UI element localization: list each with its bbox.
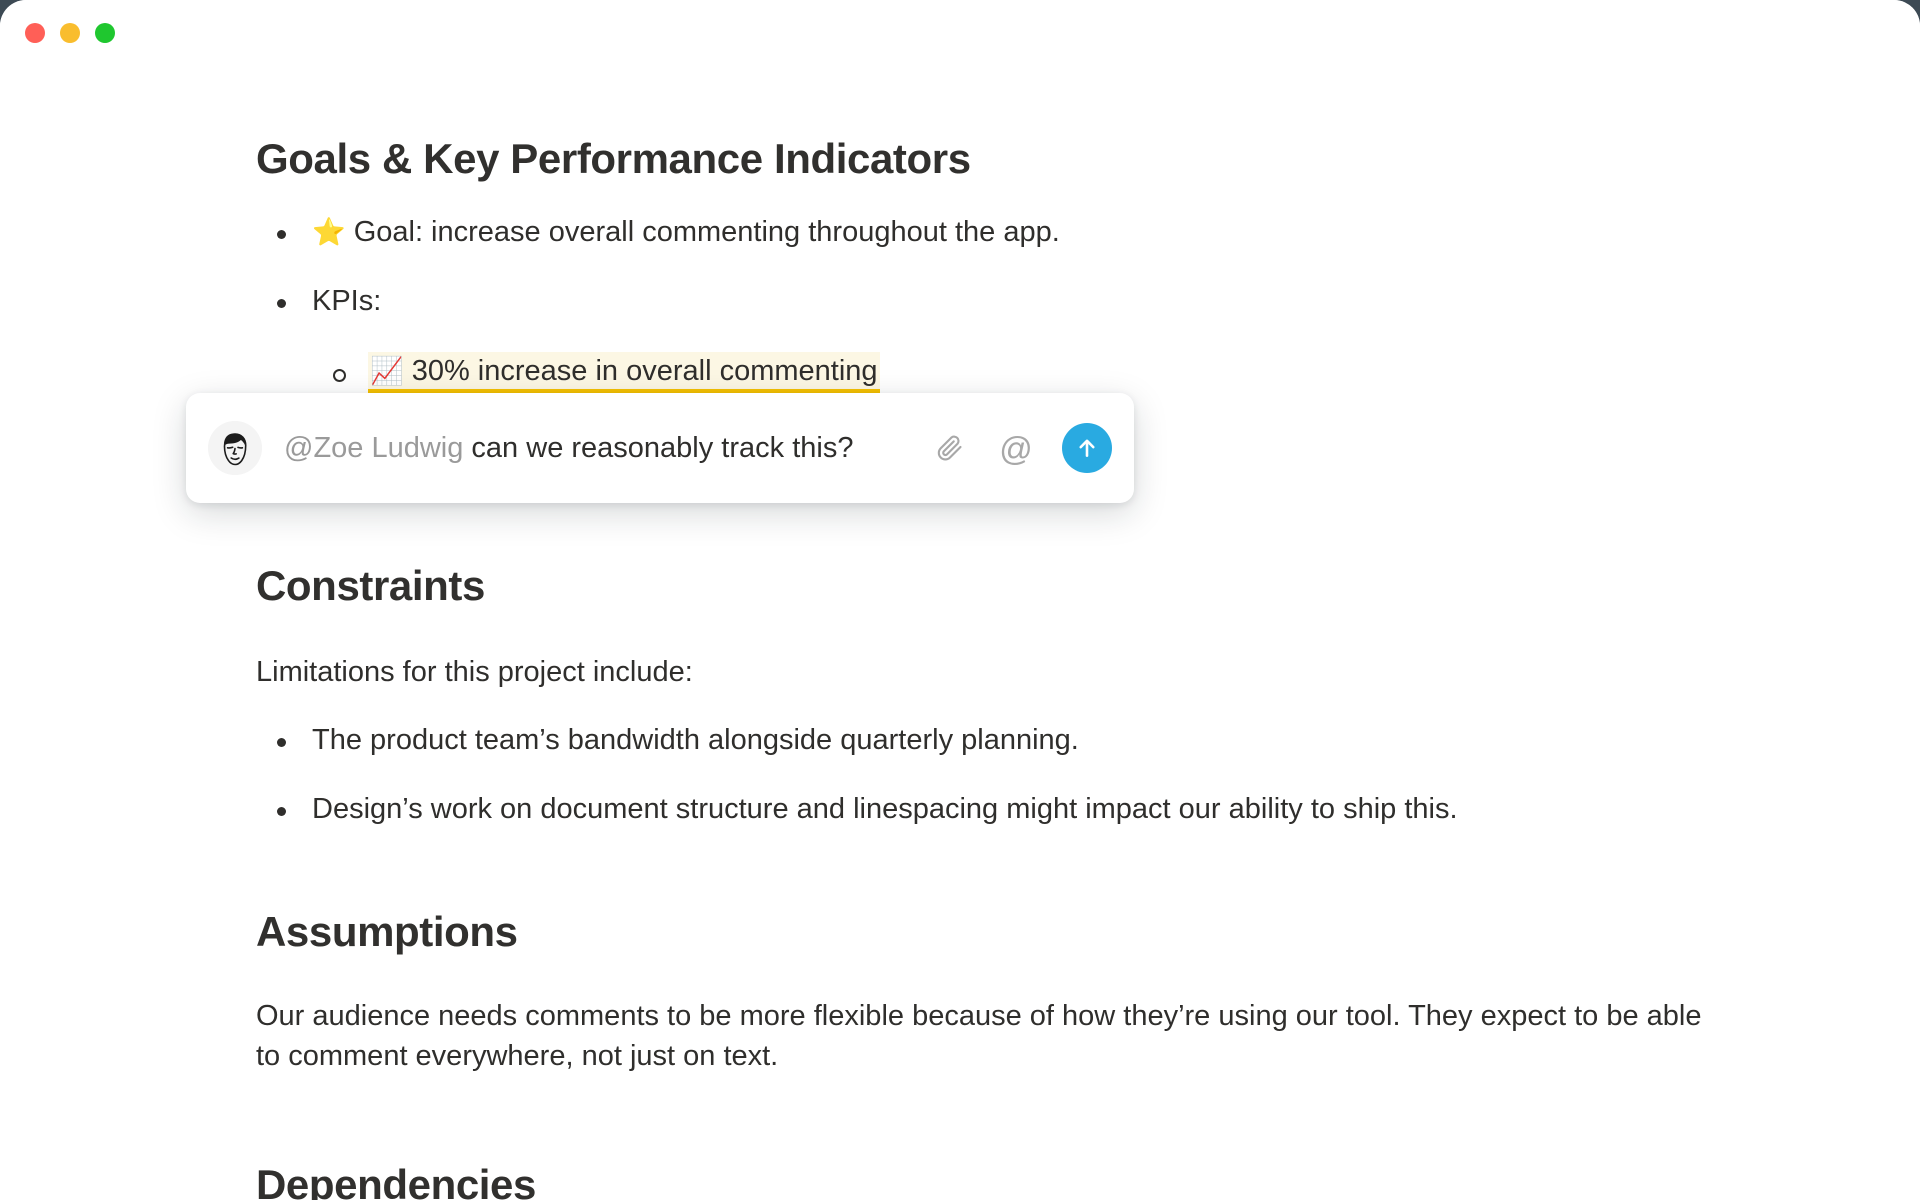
at-sign-icon: @ <box>999 432 1033 465</box>
comment-body-text: can we reasonably track this? <box>463 432 853 464</box>
window-titlebar <box>0 0 1920 72</box>
assumptions-paragraph: Our audience needs comments to be more f… <box>256 997 1720 1075</box>
user-avatar <box>208 421 262 475</box>
goals-section-heading: Goals & Key Performance Indicators <box>256 134 1720 184</box>
mention-token[interactable]: @Zoe Ludwig <box>284 432 463 464</box>
app-window: Goals & Key Performance Indicators ⭐ Goa… <box>0 0 1920 1200</box>
send-comment-button[interactable] <box>1062 423 1112 473</box>
constraints-section-heading: Constraints <box>256 561 1720 611</box>
comment-composer-popover[interactable]: @Zoe Ludwig can we reasonably track this… <box>186 393 1134 503</box>
arrow-up-icon <box>1074 435 1100 461</box>
paperclip-icon <box>935 433 965 463</box>
dependencies-section-heading: Dependencies <box>256 1160 1720 1200</box>
constraint-item-text: Design’s work on document structure and … <box>312 793 1458 825</box>
traffic-light-controls <box>25 23 115 43</box>
document-content: Goals & Key Performance Indicators ⭐ Goa… <box>0 72 1920 1200</box>
kpis-label: KPIs: <box>312 285 381 317</box>
maximize-window-button[interactable] <box>95 23 115 43</box>
chart-increasing-emoji: 📈 <box>370 356 404 387</box>
star-emoji: ⭐ <box>312 217 346 248</box>
mention-button[interactable]: @ <box>996 428 1036 468</box>
constraint-item-text: The product team’s bandwidth alongside q… <box>312 724 1079 756</box>
constraint-item[interactable]: The product team’s bandwidth alongside q… <box>256 722 1720 760</box>
kpi-sub-item-commented[interactable]: 📈 30% increase in overall commenting <box>256 353 1720 391</box>
minimize-window-button[interactable] <box>60 23 80 43</box>
assumptions-section-heading: Assumptions <box>256 907 1720 957</box>
comment-action-group: @ <box>930 423 1112 473</box>
attach-file-button[interactable] <box>930 428 970 468</box>
constraints-intro-text: Limitations for this project include: <box>256 653 1720 692</box>
kpi-item-1-text: 30% increase in overall commenting <box>412 355 878 387</box>
constraints-bullet-list: The product team’s bandwidth alongside q… <box>256 722 1720 829</box>
commented-text-highlight[interactable]: 📈 30% increase in overall commenting <box>368 352 880 394</box>
close-window-button[interactable] <box>25 23 45 43</box>
goal-bullet-text: Goal: increase overall commenting throug… <box>354 216 1060 248</box>
kpis-label-item[interactable]: KPIs: <box>256 283 1720 321</box>
goal-bullet-item[interactable]: ⭐ Goal: increase overall commenting thro… <box>256 214 1720 252</box>
constraint-item[interactable]: Design’s work on document structure and … <box>256 791 1720 829</box>
comment-input[interactable]: @Zoe Ludwig can we reasonably track this… <box>284 431 920 466</box>
